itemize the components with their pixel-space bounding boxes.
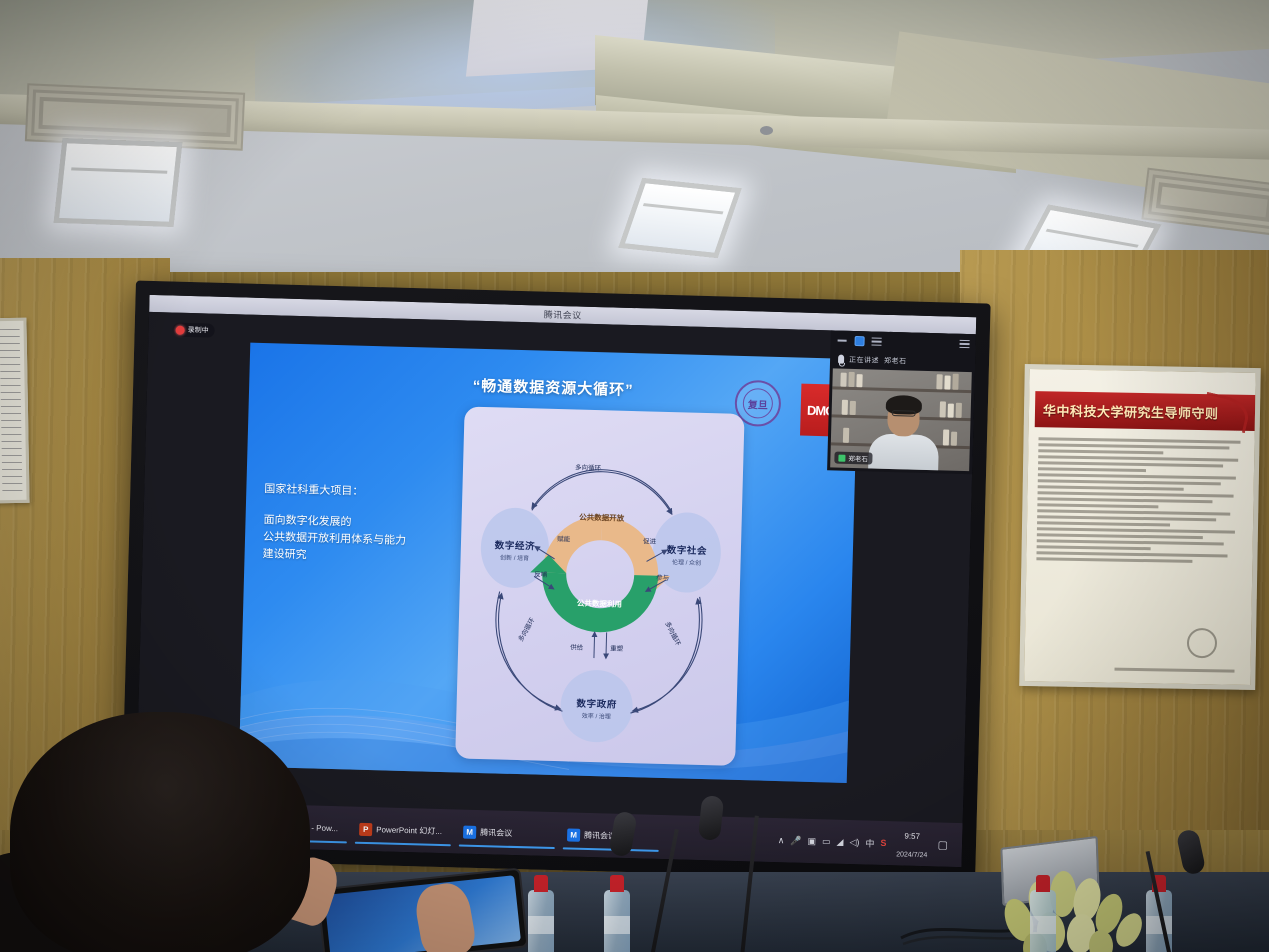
restore-icon[interactable] <box>853 335 864 346</box>
flow-label-reshape: 重塑 <box>610 643 623 653</box>
wall-notice-frame-left <box>0 318 30 504</box>
wall-poster: 华中科技大学研究生导师守则 <box>1019 364 1261 690</box>
flow-label-participate: 参与 <box>656 572 669 582</box>
tencent-meeting-window: 腾讯会议 录制中 <box>135 295 977 867</box>
poster-seal-icon <box>1187 628 1218 659</box>
taskbar-item-ppt-2[interactable]: P 论坛ppt(5) - Pow... <box>247 809 352 846</box>
taskbar-item-label: (6)（孙宁华）... <box>168 818 225 831</box>
ime-indicator[interactable]: 中 <box>865 836 874 849</box>
node-title: 数字社会 <box>647 541 727 557</box>
taskbar-item-tencent-1[interactable]: M 腾讯会议 <box>455 814 560 851</box>
minimize-icon[interactable] <box>836 335 847 346</box>
flow-label-feedback: 反哺 <box>534 568 547 578</box>
node-digital-government: 数字政府 效率 / 治理 <box>556 695 637 721</box>
layout-icon[interactable] <box>870 336 881 347</box>
recording-label: 录制中 <box>188 325 209 336</box>
participant-name: 郑老石 <box>848 453 868 464</box>
glasses-icon <box>892 410 916 417</box>
speaker-name: 郑老石 <box>884 355 907 366</box>
tencent-meeting-icon: M <box>567 828 580 841</box>
display-screen: 腾讯会议 录制中 <box>120 281 990 882</box>
microphone-icon[interactable]: 🎤 <box>790 835 802 846</box>
taskbar-item-label: 论坛ppt(5) - Pow... <box>272 821 338 834</box>
system-tray: ∧ 🎤 ▣ ▭ ◢ ◁) 中 S 9:57 2024/7/24 ▢ <box>777 822 954 864</box>
flow-label-supply: 供给 <box>570 641 583 651</box>
seal-inner-text: 复旦 <box>742 388 773 419</box>
clock[interactable]: 9:57 2024/7/24 <box>896 825 928 863</box>
video-participant-panel: 正在讲述 郑老石 <box>827 330 976 474</box>
slide-left-text-block: 国家社科重大项目： 面向数字化发展的 公共数据开放利用体系与能力 建设研究 <box>262 481 474 569</box>
recording-dot-icon <box>176 325 185 334</box>
cycle-diagram: 公共数据开放 公共数据利用 数字经济 创新 / 培育 数字社会 伦理 / 众创 <box>455 406 744 765</box>
taskbar-item-ppt-3[interactable]: P PowerPoint 幻灯... <box>351 812 456 849</box>
screenshot-icon[interactable]: ▣ <box>807 835 816 846</box>
poster-title: 华中科技大学研究生导师守则 <box>1043 400 1219 422</box>
node-title: 数字政府 <box>557 695 637 711</box>
smoke-detector-icon <box>760 126 773 135</box>
clock-time: 9:57 <box>904 831 920 840</box>
poster-body-text <box>1035 437 1247 645</box>
flow-label-top-arc: 多向循环 <box>575 461 601 472</box>
conference-room-scene: 华中科技大学研究生导师守则 <box>0 0 1269 952</box>
participant-video-tile[interactable]: 郑老石 <box>830 368 972 471</box>
node-digital-society: 数字社会 伦理 / 众创 <box>646 541 727 567</box>
poster-footer-line <box>1114 668 1234 673</box>
taskbar-item-label: 腾讯会议 <box>480 827 512 839</box>
node-digital-economy: 数字经济 创新 / 培育 <box>475 537 556 563</box>
recording-badge: 录制中 <box>172 323 214 338</box>
clock-date: 2024/7/24 <box>896 851 927 859</box>
meeting-body: 录制中 <box>136 312 976 823</box>
ceiling-light <box>54 138 183 227</box>
participant-body <box>868 433 939 471</box>
powerpoint-icon: P <box>255 819 268 832</box>
sogou-icon[interactable]: S <box>880 838 886 848</box>
flow-label-enable: 赋能 <box>557 533 570 543</box>
battery-icon[interactable]: ▭ <box>822 836 831 847</box>
taskbar-item-ppt-1[interactable]: P (6)（孙宁华）... <box>143 806 248 843</box>
shared-screen-area[interactable]: “畅通数据资源大循环” 国家社科重大项目： 面向数字化发展的 公共数据开放利用体… <box>239 343 858 783</box>
taskbar-item-label: PowerPoint 幻灯... <box>376 824 442 837</box>
node-title: 数字经济 <box>475 537 555 553</box>
taskbar-item-tencent-2[interactable]: M 腾讯会议 <box>559 817 664 854</box>
tencent-meeting-icon: M <box>463 825 476 838</box>
project-label: 国家社科重大项目： <box>264 481 474 504</box>
taskbar-item-label: 腾讯会议 <box>584 829 616 841</box>
notification-icon[interactable]: ▢ <box>937 838 948 851</box>
powerpoint-icon: P <box>359 822 372 835</box>
microphone-icon <box>838 355 844 364</box>
ceiling-light <box>618 178 742 258</box>
wifi-icon[interactable]: ◢ <box>836 836 843 847</box>
speaker-status: 正在讲述 <box>849 354 879 365</box>
mic-active-icon <box>838 454 845 461</box>
powerpoint-icon: P <box>151 817 164 830</box>
volume-icon[interactable]: ◁) <box>849 837 859 848</box>
participant-nametag: 郑老石 <box>834 452 872 465</box>
window-title: 腾讯会议 <box>544 308 582 322</box>
menu-icon[interactable] <box>958 338 969 349</box>
flow-label-promote: 促进 <box>643 535 656 545</box>
chevron-up-icon[interactable]: ∧ <box>778 835 785 846</box>
screen-content: 腾讯会议 录制中 <box>135 295 977 867</box>
